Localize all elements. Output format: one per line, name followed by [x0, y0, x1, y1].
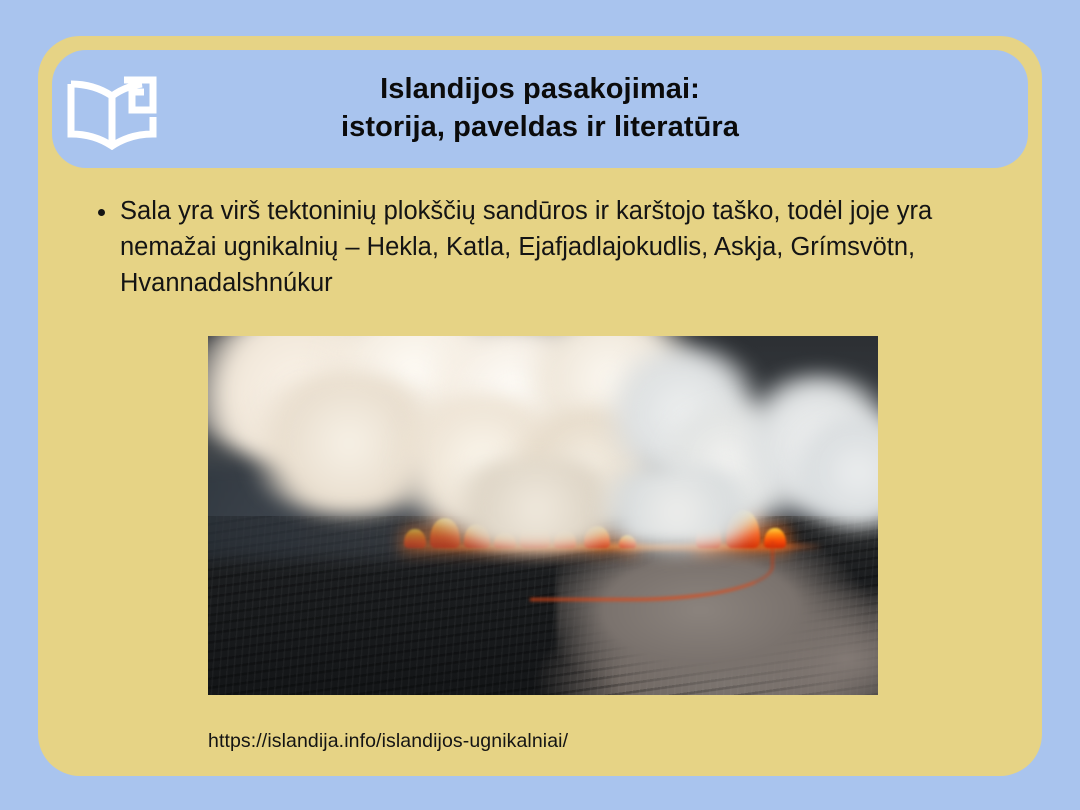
photo-smoke-plume [583, 465, 771, 551]
volcano-photo [208, 336, 878, 695]
content-card: Islandijos pasakojimai: istorija, paveld… [38, 36, 1042, 776]
list-item: Sala yra virš tektoninių plokščių sandūr… [68, 193, 1028, 302]
body-bullet-list: Sala yra virš tektoninių plokščių sandūr… [68, 193, 1028, 302]
title-line-2: istorija, paveldas ir literatūra [78, 109, 1002, 147]
open-book-icon [66, 70, 162, 150]
title-line-1: Islandijos pasakojimai: [78, 71, 1002, 109]
page-title: Islandijos pasakojimai: istorija, paveld… [52, 71, 1028, 146]
photo-scene [208, 336, 878, 695]
slide: Islandijos pasakojimai: istorija, paveld… [0, 0, 1080, 810]
source-url: https://islandija.info/islandijos-ugnika… [208, 730, 568, 753]
title-banner: Islandijos pasakojimai: istorija, paveld… [52, 50, 1028, 168]
